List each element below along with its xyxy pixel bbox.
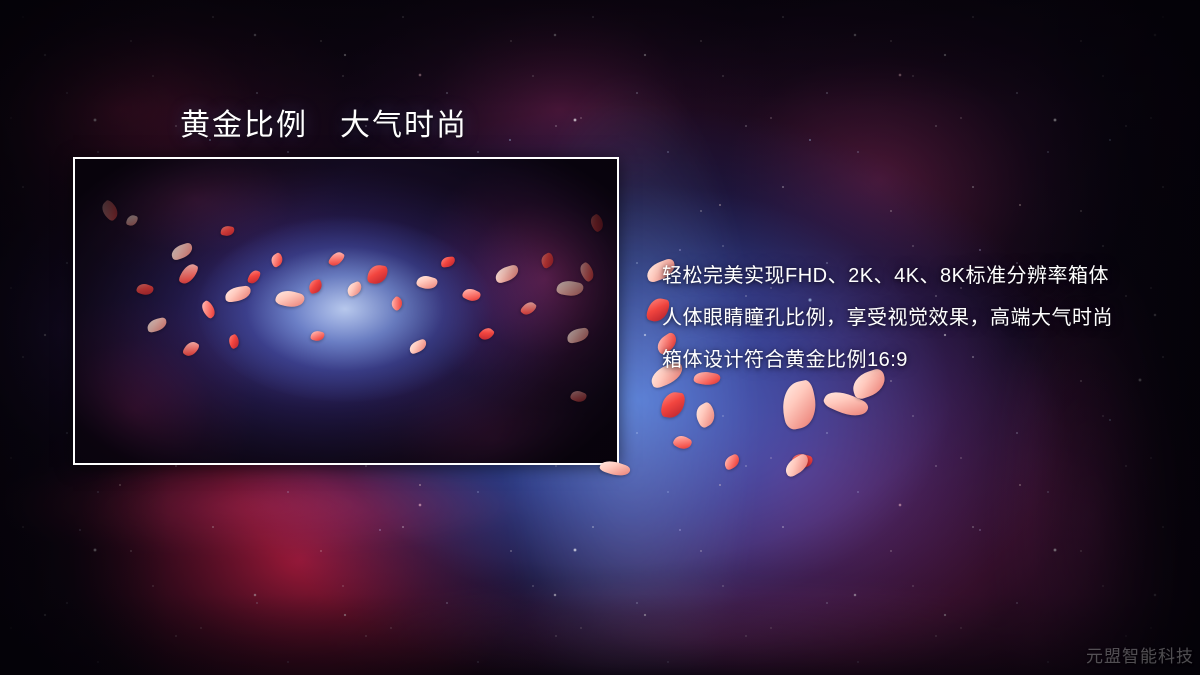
body-line-3: 箱体设计符合黄金比例16:9 (662, 339, 1162, 381)
product-photo-frame (73, 157, 619, 465)
body-line-1: 轻松完美实现FHD、2K、4K、8K标准分辨率箱体 (662, 255, 1162, 297)
photo-vignette (75, 159, 617, 463)
page-title: 黄金比例 大气时尚 (180, 100, 468, 144)
body-line-2: 人体眼睛瞳孔比例，享受视觉效果，高端大气时尚 (662, 297, 1162, 339)
body-copy: 轻松完美实现FHD、2K、4K、8K标准分辨率箱体 人体眼睛瞳孔比例，享受视觉效… (662, 255, 1162, 381)
company-watermark: 元盟智能科技 (1086, 642, 1194, 667)
photo-nebula-image (75, 159, 617, 463)
slide-root: 黄金比例 大气时尚 (0, 0, 1200, 675)
